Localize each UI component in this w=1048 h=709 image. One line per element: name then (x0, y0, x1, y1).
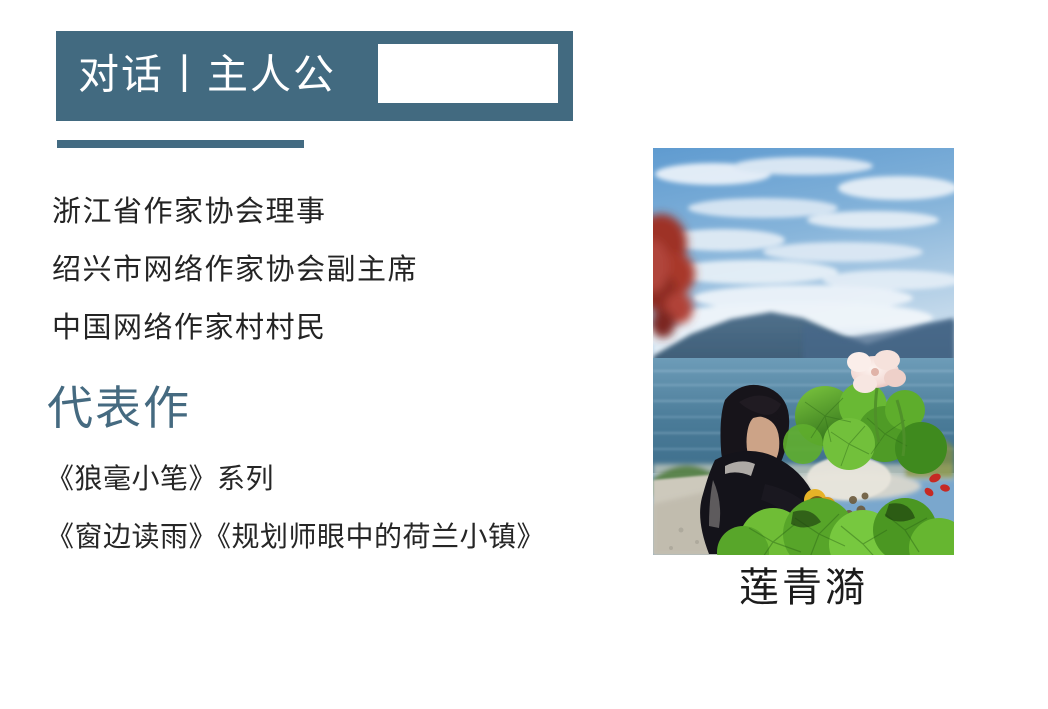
list-item: 《窗边读雨》《规划师眼中的荷兰小镇》 (46, 524, 646, 552)
page-title: 对话丨主人公 (78, 55, 336, 96)
list-item: 绍兴市网络作家协会副主席 (52, 256, 612, 285)
works-list: 《狼毫小笔》系列 《窗边读雨》《规划师眼中的荷兰小镇》 (46, 466, 646, 582)
header-band: 对话丨主人公 (56, 31, 573, 121)
list-item: 浙江省作家协会理事 (52, 198, 612, 227)
portrait-photo (653, 148, 954, 555)
works-section-heading: 代表作 (47, 386, 191, 432)
header-blank-box (378, 44, 558, 103)
portrait-name: 莲青漪 (653, 568, 954, 608)
list-item: 《狼毫小笔》系列 (46, 466, 646, 494)
accent-underline-bar (57, 140, 304, 148)
list-item: 中国网络作家村村民 (52, 314, 612, 343)
credentials-list: 浙江省作家协会理事 绍兴市网络作家协会副主席 中国网络作家村村民 (52, 198, 612, 372)
